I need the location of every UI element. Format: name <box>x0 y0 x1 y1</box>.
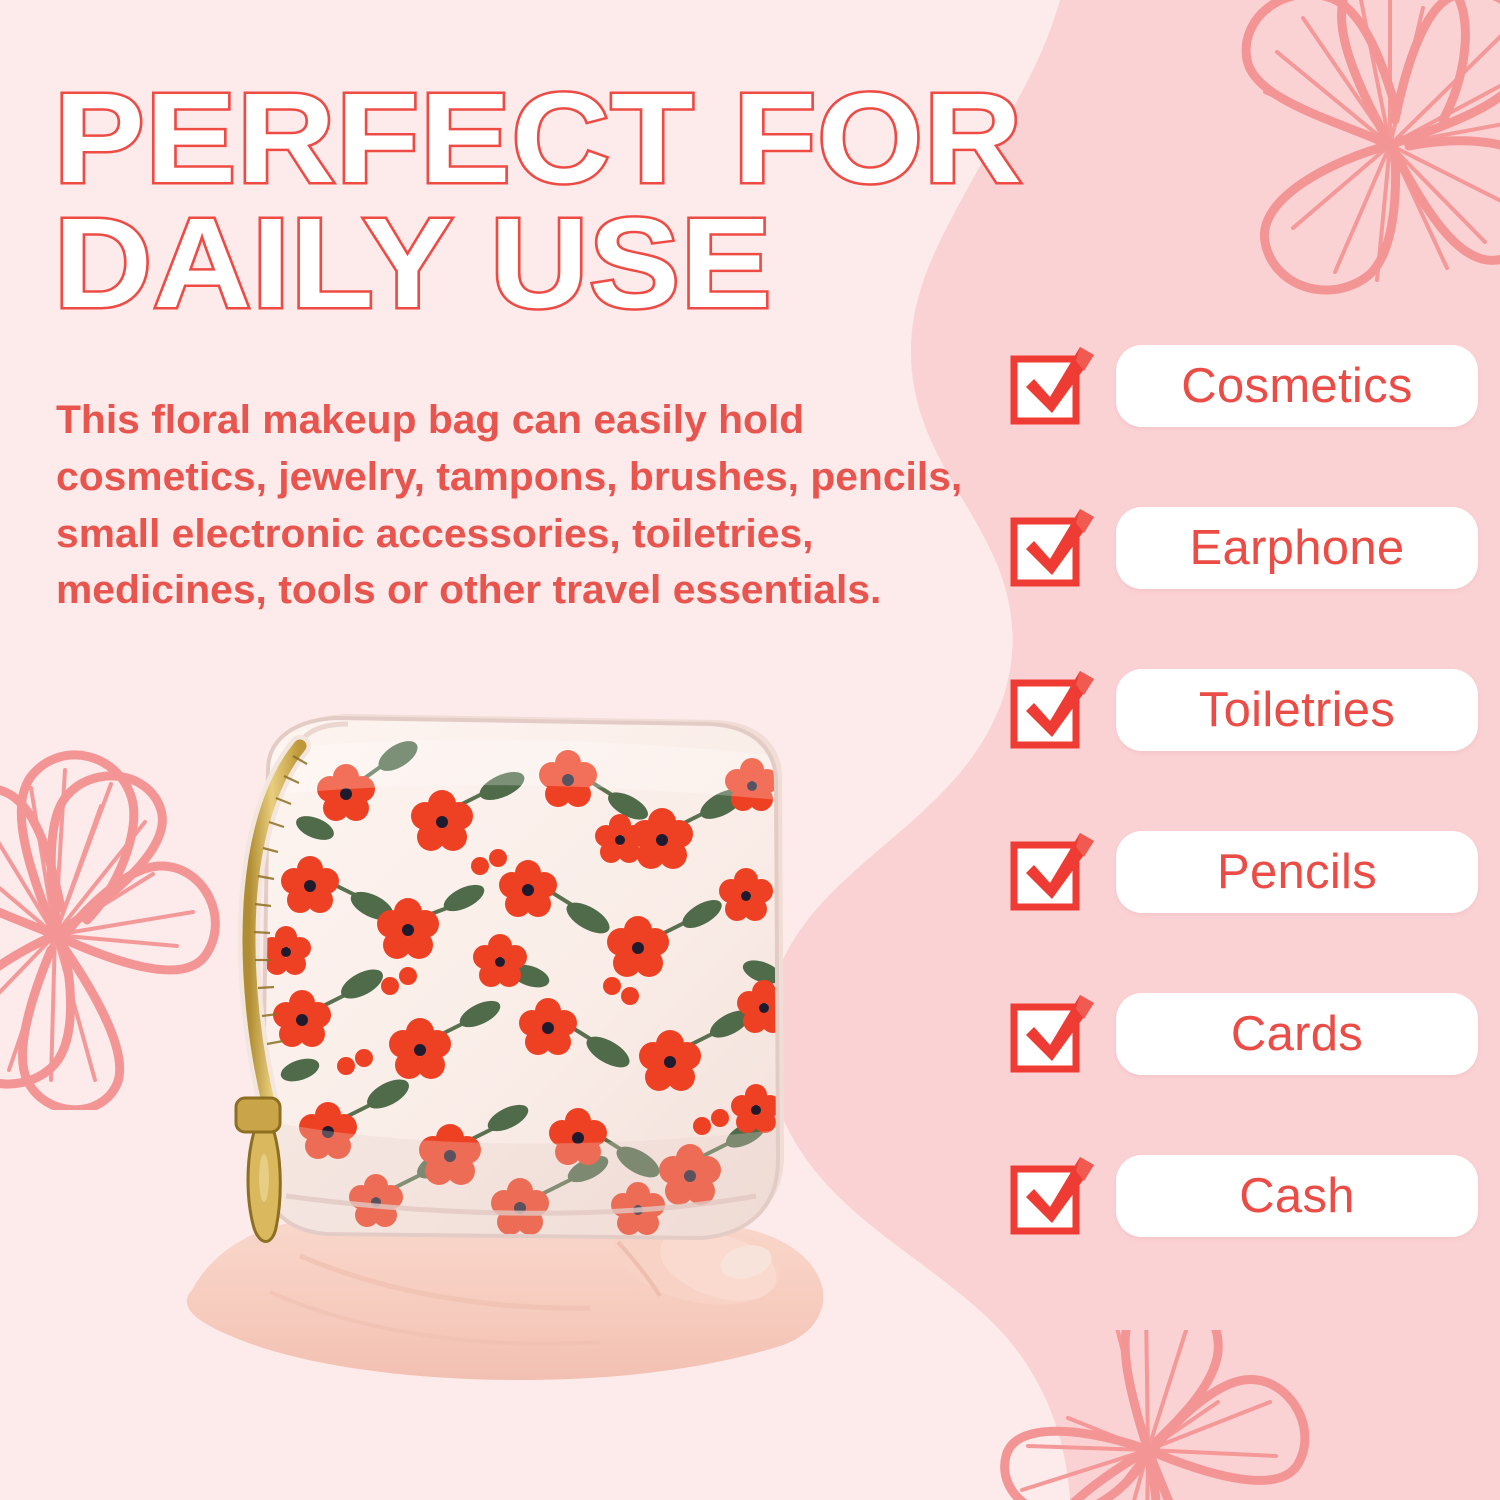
list-item[interactable]: Cash <box>1008 1155 1478 1237</box>
list-item[interactable]: Toiletries <box>1008 669 1478 751</box>
list-item[interactable]: Cards <box>1008 993 1478 1075</box>
feature-pill[interactable]: Earphone <box>1116 507 1478 589</box>
checkbox-checked-icon[interactable] <box>1010 343 1096 429</box>
feature-pill[interactable]: Pencils <box>1116 831 1478 913</box>
checkbox-checked-icon[interactable] <box>1010 991 1096 1077</box>
product-image-floral-makeup-bag <box>150 690 870 1390</box>
list-item[interactable]: Cosmetics <box>1008 345 1478 427</box>
list-item[interactable]: Pencils <box>1008 831 1478 913</box>
list-item[interactable]: Earphone <box>1008 507 1478 589</box>
makeup-bag <box>236 714 791 1242</box>
feature-pill[interactable]: Cards <box>1116 993 1478 1075</box>
page-title: PERFECT FOR DAILY USE <box>54 76 1114 327</box>
feature-pill[interactable]: Toiletries <box>1116 669 1478 751</box>
list-item-label: Cards <box>1231 1006 1363 1062</box>
list-item-label: Pencils <box>1217 844 1377 900</box>
checkbox-checked-icon[interactable] <box>1010 829 1096 915</box>
feature-pill[interactable]: Cash <box>1116 1155 1478 1237</box>
hand-holding-product <box>187 1218 824 1380</box>
feature-pill[interactable]: Cosmetics <box>1116 345 1478 427</box>
hibiscus-outline-bottom-right-icon <box>950 1330 1350 1500</box>
features-checklist: Cosmetics Earphone <box>1008 345 1478 1237</box>
checkbox-checked-icon[interactable] <box>1010 667 1096 753</box>
infographic-canvas: PERFECT FOR DAILY USE This floral makeup… <box>0 0 1500 1500</box>
hibiscus-outline-top-right-icon <box>1185 0 1500 330</box>
list-item-label: Cosmetics <box>1181 358 1412 414</box>
list-item-label: Earphone <box>1190 520 1405 576</box>
checkbox-checked-icon[interactable] <box>1010 1153 1096 1239</box>
description-paragraph: This floral makeup bag can easily hold c… <box>56 392 1025 619</box>
list-item-label: Toiletries <box>1199 682 1395 738</box>
list-item-label: Cash <box>1239 1168 1355 1224</box>
checkbox-checked-icon[interactable] <box>1010 505 1096 591</box>
